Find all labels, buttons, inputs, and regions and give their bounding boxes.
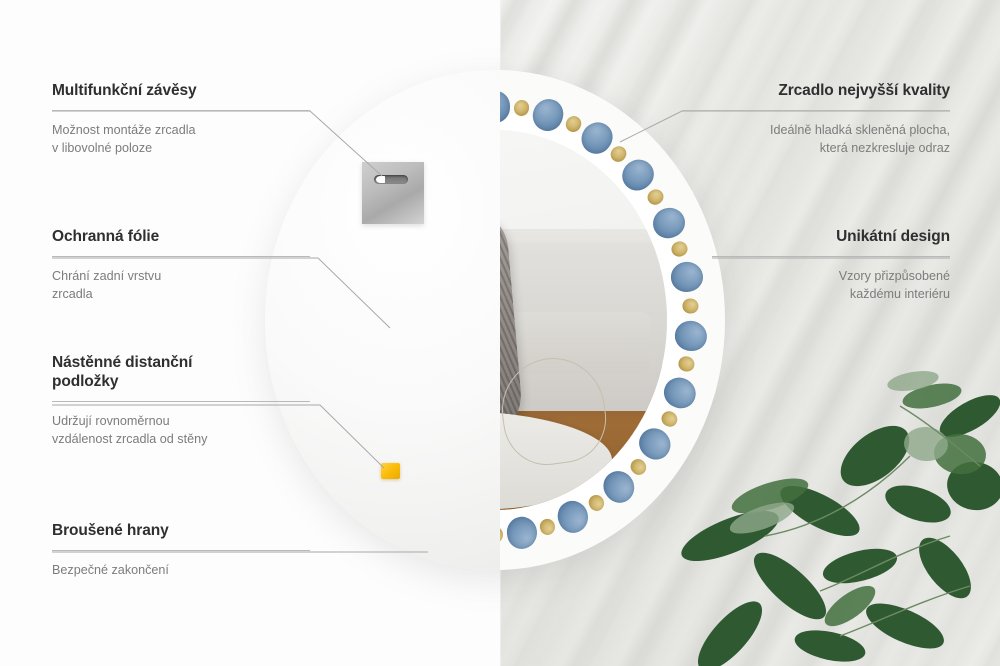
callout-description: Bezpečné zakončení	[52, 561, 310, 579]
spacer-pad-icon	[381, 463, 400, 479]
keyhole-slot-icon	[374, 175, 408, 184]
callout-description: Možnost montáže zrcadla v libovolné polo…	[52, 121, 310, 158]
leaf-cluster-icon	[670, 336, 1000, 666]
pattern-dot-gold	[563, 114, 583, 135]
pattern-dot-gold	[644, 186, 666, 207]
callout-nastenne-distancni-podlozky: Nástěnné distanční podložky Udržují rovn…	[52, 354, 310, 448]
callout-unikatni-design: Unikátní design Vzory přizpůsobené každé…	[712, 228, 950, 303]
pattern-dot-blue	[648, 202, 690, 243]
callout-rule	[52, 550, 310, 551]
pattern-dot-blue	[668, 259, 705, 295]
callout-multifunkcni-zavesy: Multifunkční závěsy Možnost montáže zrca…	[52, 82, 310, 157]
pattern-dot-gold	[539, 517, 558, 536]
pattern-dot-gold	[627, 456, 649, 478]
callout-rule	[52, 110, 310, 111]
callout-description: Ideálně hladká skleněná plocha, která ne…	[682, 121, 950, 158]
callout-title: Ochranná fólie	[52, 228, 310, 247]
callout-rule	[52, 256, 310, 257]
callout-zrcadlo-nejvyssi-kvality: Zrcadlo nejvyšší kvality Ideálně hladká …	[682, 82, 950, 157]
pattern-dot-gold	[586, 493, 607, 514]
pattern-dot-gold	[608, 144, 630, 166]
callout-rule	[712, 256, 950, 257]
wall-bracket-icon	[362, 162, 424, 224]
callout-description: Chrání zadní vrstvu zrcadla	[52, 267, 310, 304]
callout-title: Nástěnné distanční podložky	[52, 354, 310, 392]
pattern-dot-blue	[500, 91, 510, 123]
callout-description: Udržují rovnoměrnou vzdálenost zrcadla o…	[52, 412, 310, 449]
pattern-dot-gold	[513, 100, 530, 118]
pattern-dot-blue	[553, 497, 593, 538]
pattern-dot-blue	[505, 515, 539, 551]
infographic-canvas: Multifunkční závěsy Možnost montáže zrca…	[0, 0, 1000, 666]
pattern-dot-gold	[670, 239, 690, 258]
pattern-dot-blue	[529, 95, 566, 134]
callout-title: Multifunkční závěsy	[52, 82, 310, 101]
callout-title: Unikátní design	[712, 228, 950, 247]
callout-title: Zrcadlo nejvyšší kvality	[682, 82, 950, 101]
pattern-dot-gold	[500, 527, 503, 543]
mirror-product	[265, 70, 725, 570]
decorative-foliage	[670, 336, 1000, 666]
callout-title: Broušené hrany	[52, 522, 310, 541]
callout-description: Vzory přizpůsobené každému interiéru	[712, 267, 950, 304]
callout-rule	[52, 401, 310, 402]
callout-ochranna-folie: Ochranná fólie Chrání zadní vrstvu zrcad…	[52, 228, 310, 303]
callout-rule	[682, 110, 950, 111]
callout-brousene-hrany: Broušené hrany Bezpečné zakončení	[52, 522, 310, 579]
pattern-dot-gold	[682, 298, 699, 314]
